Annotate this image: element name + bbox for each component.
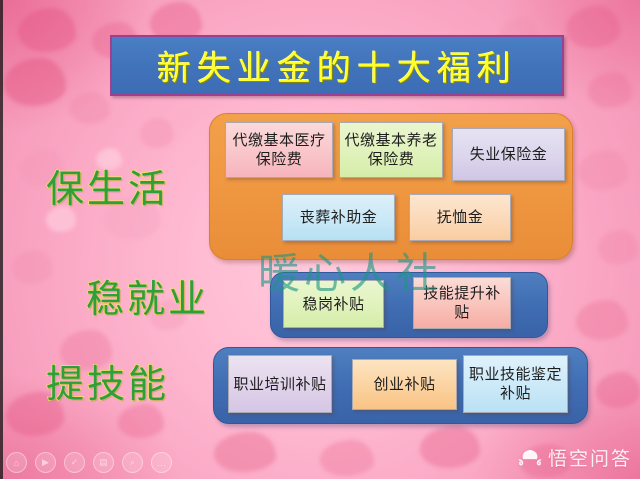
benefit-card-vocational-training: 职业培训补贴 [228, 355, 332, 413]
wukong-logo-icon [518, 449, 542, 466]
calendar-icon[interactable]: ▤ [93, 452, 114, 473]
category-label-baoshenghuo: 保生活 [46, 158, 169, 213]
play-icon[interactable]: ▶ [35, 452, 56, 473]
benefit-card-skill-appraisal: 职业技能鉴定补贴 [463, 355, 568, 413]
benefit-card-startup-subsidy: 创业补贴 [352, 359, 457, 410]
page-title-banner: 新失业金的十大福利 [110, 35, 564, 96]
benefit-card-unemployment-payment: 失业保险金 [452, 128, 565, 181]
page-title: 新失业金的十大福利 [157, 41, 517, 90]
left-edge-border [0, 0, 3, 479]
benefit-card-pension-insurance: 代缴基本养老保险费 [339, 122, 443, 178]
home-icon[interactable]: ⌂ [6, 452, 27, 473]
category-label-tijineng: 提技能 [46, 353, 169, 408]
brand-watermark: 悟空问答 [518, 444, 632, 471]
benefit-card-funeral-subsidy: 丧葬补助金 [282, 194, 395, 241]
bottom-icon-bar[interactable]: ⌂ ▶ ✓ ▤ ⌕ … [6, 452, 172, 473]
search-icon[interactable]: ⌕ [122, 452, 143, 473]
check-icon[interactable]: ✓ [64, 452, 85, 473]
benefit-card-post-stabilization: 稳岗补贴 [283, 280, 384, 328]
more-icon[interactable]: … [151, 452, 172, 473]
benefit-card-skill-upgrade: 技能提升补贴 [413, 277, 511, 329]
slide-canvas: 新失业金的十大福利 保生活 稳就业 提技能 暖心人社 代缴基本医疗保险费 代缴基… [0, 0, 640, 479]
brand-watermark-text: 悟空问答 [548, 444, 632, 471]
benefit-card-medical-insurance: 代缴基本医疗保险费 [225, 122, 333, 178]
category-label-wenjiuye: 稳就业 [86, 268, 209, 323]
benefit-card-consolation-payment: 抚恤金 [409, 194, 511, 241]
